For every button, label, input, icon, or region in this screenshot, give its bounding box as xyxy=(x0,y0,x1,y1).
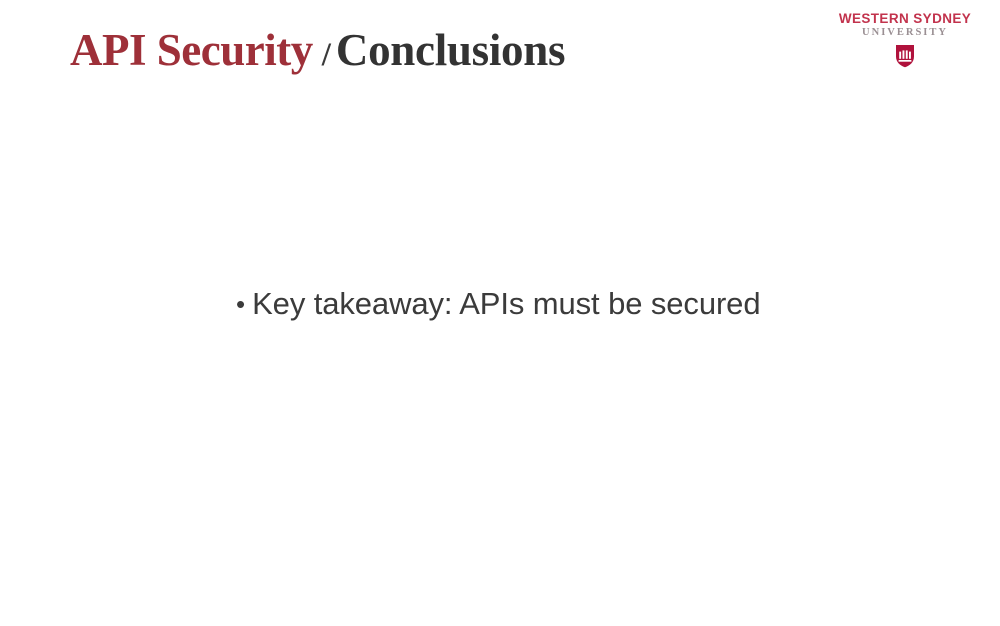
title-primary: API Security xyxy=(70,28,313,73)
bullet-marker-icon: • xyxy=(236,283,245,325)
shield-crest-icon xyxy=(895,44,915,68)
slide-content: • Key takeaway: APIs must be secured xyxy=(236,283,876,325)
title-secondary: Conclusions xyxy=(336,28,565,73)
page-title: API Security / Conclusions xyxy=(70,28,565,73)
title-separator: / xyxy=(313,39,336,72)
bullet-item: • Key takeaway: APIs must be secured xyxy=(236,283,876,325)
slide-canvas: API Security / Conclusions WESTERN SYDNE… xyxy=(0,0,1000,626)
logo-line1-western-sydney: WESTERN SYDNEY xyxy=(830,12,980,26)
logo-line2-university: UNIVERSITY xyxy=(830,27,980,40)
university-logo: WESTERN SYDNEY UNIVERSITY xyxy=(830,12,980,72)
bullet-text: Key takeaway: APIs must be secured xyxy=(252,283,760,325)
